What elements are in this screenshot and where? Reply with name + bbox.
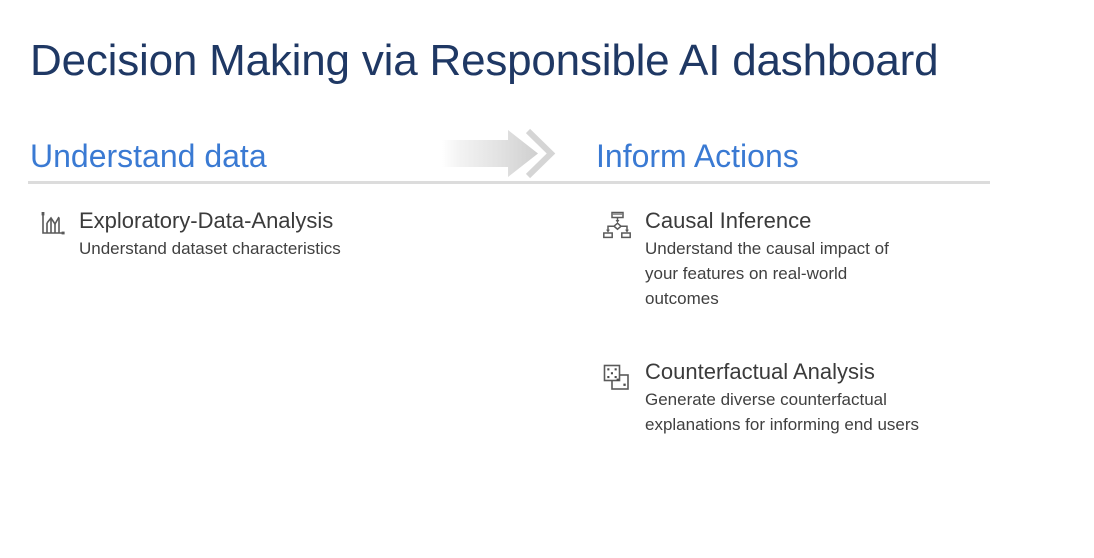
feature-description: Understand the causal impact of your fea…: [645, 236, 923, 311]
feature-title: Causal Inference: [645, 207, 923, 235]
overlapping-dice-squares-icon: [603, 364, 631, 392]
right-arrow-gradient-icon: [440, 128, 565, 180]
bar-chart-icon: [40, 211, 66, 237]
feature-title: Counterfactual Analysis: [645, 358, 933, 386]
header-divider: [28, 181, 990, 184]
feature-item-exploratory-data-analysis[interactable]: Exploratory-Data-Analysis Understand dat…: [40, 207, 440, 261]
flowchart-decision-icon: [603, 211, 631, 239]
feature-item-counterfactual-analysis[interactable]: Counterfactual Analysis Generate diverse…: [603, 358, 933, 437]
page-title: Decision Making via Responsible AI dashb…: [30, 30, 1050, 92]
feature-item-causal-inference[interactable]: Causal Inference Understand the causal i…: [603, 207, 923, 311]
feature-title: Exploratory-Data-Analysis: [79, 207, 440, 235]
feature-description: Generate diverse counterfactual explanat…: [645, 387, 933, 437]
column-header-understand-data: Understand data: [30, 134, 267, 178]
column-header-inform-actions: Inform Actions: [596, 134, 799, 178]
feature-description: Understand dataset characteristics: [79, 236, 440, 261]
slide-canvas: Decision Making via Responsible AI dashb…: [0, 0, 1094, 558]
